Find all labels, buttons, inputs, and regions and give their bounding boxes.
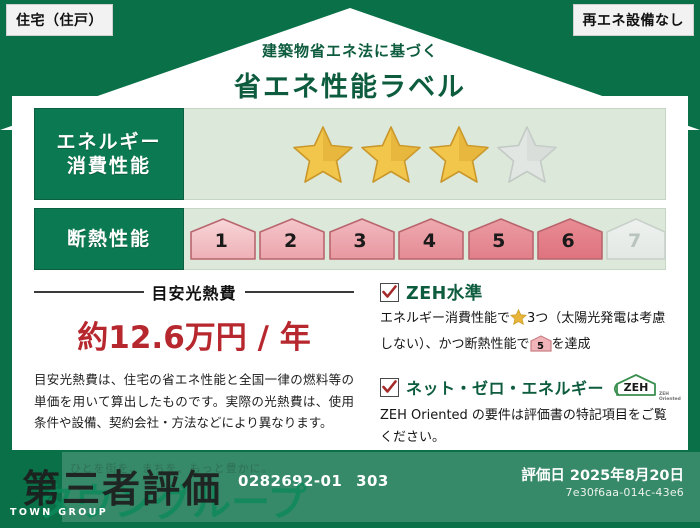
label-board: 住宅（住戸） 再エネ設備なし 建築物省エネ法に基づく 省エネ性能ラベル エネルギ… (0, 0, 700, 522)
insulation-house-filled: 2 (257, 216, 323, 262)
row-insulation-label: 断熱性能 (34, 208, 184, 270)
checkbox-checked-icon (380, 283, 399, 302)
insulation-house-value: 4 (396, 230, 462, 252)
insulation-level-scale: 1234567 (184, 208, 666, 270)
rule-right (245, 291, 355, 293)
star-rating (184, 108, 666, 200)
insulation-house-filled: 6 (535, 216, 601, 262)
footer-bar: 0282692-01303 評価日 2025年8月20日 7e30f6aa-01… (0, 450, 700, 522)
utility-cost-block: 目安光熱費 約12.6万円 / 年 目安光熱費は、住宅の省エネ性能と全国一律の燃… (34, 280, 354, 434)
row-energy-label: エネルギー 消費性能 (34, 108, 184, 200)
title-main: 省エネ性能ラベル (0, 65, 700, 104)
row-energy-label-line1: エネルギー (56, 130, 161, 154)
zeh-netzero-heading-row: ネット・ゼロ・エネルギー ZEH ZEH Oriented (380, 373, 668, 402)
zeh-standard-description: エネルギー消費性能で 3つ（太陽光発電は考慮しない）、かつ断熱性能で 5 を達成 (380, 308, 668, 357)
insulation-house-empty: 7 (604, 216, 665, 262)
row-insulation-label-text: 断熱性能 (67, 227, 151, 251)
row-insulation-performance: 断熱性能 1234567 (34, 208, 666, 270)
zeh-standard-text-a: エネルギー消費性能で (380, 311, 510, 326)
inline-house-badge-icon: 5 (530, 335, 552, 352)
insulation-house-value: 7 (604, 230, 665, 252)
row-energy-performance: エネルギー 消費性能 (34, 108, 666, 200)
checkbox-checked-icon-2 (380, 378, 399, 397)
zeh-block: ZEH水準 エネルギー消費性能で 3つ（太陽光発電は考慮しない）、かつ断熱性能で… (380, 280, 668, 450)
insulation-house-value: 6 (535, 230, 601, 252)
zeh-netzero-description: ZEH Oriented の要件は評価書の特記項目をご覧ください。 (380, 405, 668, 451)
row-energy-label-line2: 消費性能 (67, 154, 151, 178)
zeh-logo-sub-text: ZEH Oriented (659, 392, 685, 402)
zeh-standard-heading: ZEH水準 (406, 280, 483, 305)
rule-left (34, 291, 144, 293)
footer-code-main: 0282692-01 (238, 472, 342, 490)
evaluation-date: 評価日 2025年8月20日 (521, 464, 684, 485)
footer-code: 0282692-01303 (238, 472, 389, 490)
chip-building-type: 住宅（住戸） (6, 4, 113, 36)
svg-text:ZEH: ZEH (624, 381, 649, 394)
inline-house-badge-value: 5 (530, 338, 552, 356)
insulation-house-filled: 5 (466, 216, 532, 262)
zeh-logo-icon: ZEH ZEH Oriented (613, 373, 659, 402)
utility-cost-title: 目安光熱費 (152, 280, 237, 304)
star-filled-icon (428, 124, 490, 184)
utility-cost-title-row: 目安光熱費 (34, 280, 354, 304)
zeh-netzero-item: ネット・ゼロ・エネルギー ZEH ZEH Oriented ZEH Orient… (380, 373, 668, 451)
insulation-house-filled: 1 (188, 216, 254, 262)
title-subtitle: 建築物省エネ法に基づく (0, 40, 700, 61)
zeh-netzero-heading: ネット・ゼロ・エネルギー (406, 375, 604, 399)
zeh-standard-item: ZEH水準 エネルギー消費性能で 3つ（太陽光発電は考慮しない）、かつ断熱性能で… (380, 280, 668, 357)
inline-star-icon (510, 309, 527, 334)
insulation-house-value: 3 (327, 230, 393, 252)
evaluation-id: 7e30f6aa-014c-43e6 (566, 486, 684, 499)
utility-cost-value: 約12.6万円 / 年 (34, 312, 354, 357)
star-filled-icon (360, 124, 422, 184)
insulation-house-filled: 4 (396, 216, 462, 262)
chip-renewable-equipment: 再エネ設備なし (573, 4, 695, 36)
utility-cost-note: 目安光熱費は、住宅の省エネ性能と全国一律の燃料等の単価を用いて算出したものです。… (34, 369, 354, 434)
zeh-standard-text-c: を達成 (552, 337, 591, 352)
page-title: 建築物省エネ法に基づく 省エネ性能ラベル (0, 40, 700, 104)
footer-code-suffix: 303 (356, 472, 389, 490)
zeh-standard-heading-row: ZEH水準 (380, 280, 668, 305)
insulation-house-value: 5 (466, 230, 532, 252)
insulation-house-filled: 3 (327, 216, 393, 262)
insulation-house-value: 2 (257, 230, 323, 252)
zeh-logo-sub-line2: Oriented (659, 397, 681, 402)
insulation-house-value: 1 (188, 230, 254, 252)
star-empty-icon (496, 124, 558, 184)
star-filled-icon (292, 124, 354, 184)
